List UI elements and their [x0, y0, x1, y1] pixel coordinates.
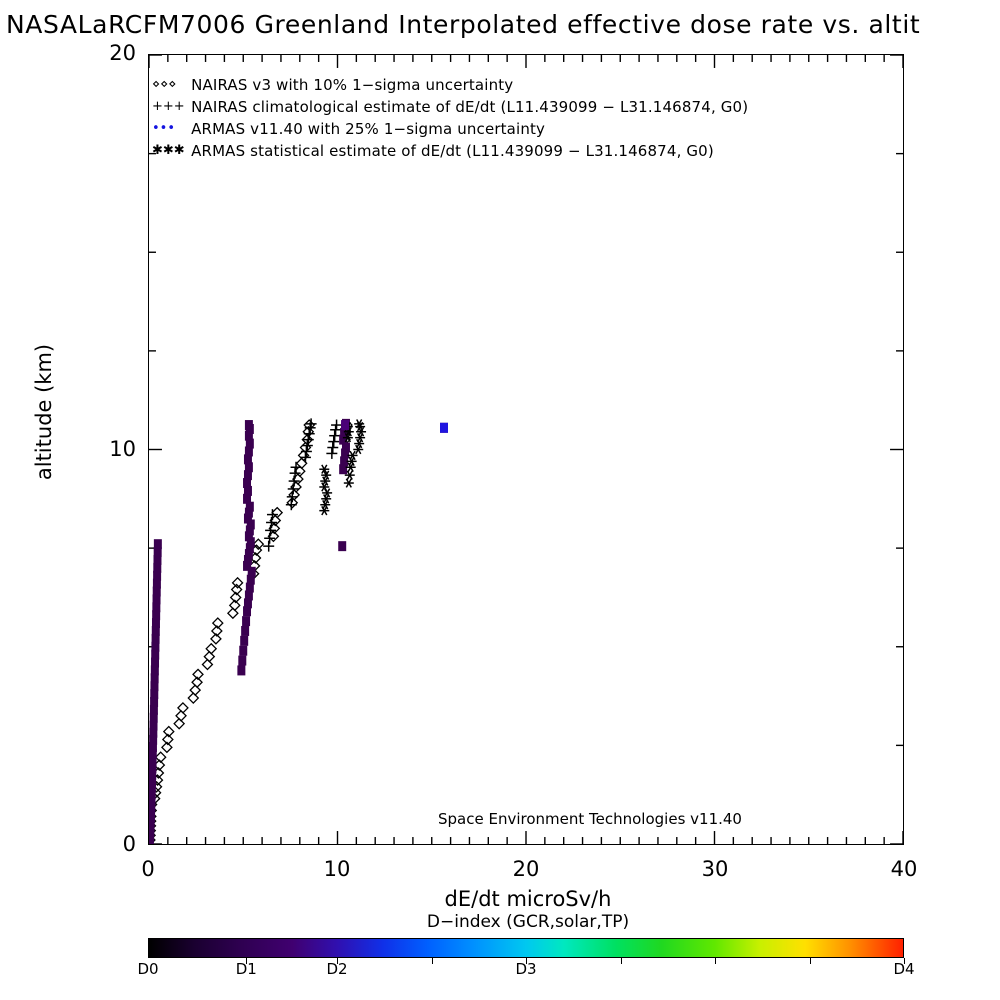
y-tick-label: 20: [76, 41, 136, 65]
legend-item-armas-stat: ✱✱✱ ARMAS statistical estimate of dE/dt …: [152, 140, 892, 162]
legend-label: ARMAS v11.40 with 25% 1−sigma uncertaint…: [191, 118, 545, 140]
series-1: [263, 418, 342, 551]
x-tick-label: 40: [864, 857, 944, 881]
y-axis-title: altitude (km): [32, 282, 56, 542]
asterisk-icon: ✱✱✱: [152, 140, 186, 162]
plot-area: [148, 54, 904, 845]
watermark-text: Space Environment Technologies v11.40: [370, 810, 810, 828]
diamond-open-icon: ⋄⋄⋄: [152, 74, 186, 96]
colorbar-tick: [715, 958, 716, 964]
y-tick-label: 10: [76, 437, 136, 461]
filled-square-icon: •••: [152, 118, 186, 140]
scatter-plot-canvas: [149, 55, 903, 844]
colorbar-title: D−index (GCR,solar,TP): [388, 912, 668, 932]
legend-label: NAIRAS climatological estimate of dE/dt …: [191, 96, 748, 118]
plus-icon: +++: [152, 96, 186, 118]
colorbar-label: D0: [128, 960, 168, 978]
colorbar-label: D1: [226, 960, 266, 978]
page-title: NASALaRCFM7006 Greenland Interpolated ef…: [6, 10, 1000, 40]
colorbar-label: D2: [317, 960, 357, 978]
legend-item-armas-v1140: ••• ARMAS v11.40 with 25% 1−sigma uncert…: [152, 118, 892, 140]
legend-item-nairas-clim: +++ NAIRAS climatological estimate of dE…: [152, 96, 892, 118]
x-tick-label: 20: [486, 857, 566, 881]
colorbar-tick: [810, 958, 811, 964]
colorbar-label: D4: [884, 960, 924, 978]
colorbar-label: D3: [506, 960, 546, 978]
x-axis-title: dE/dt microSv/h: [388, 887, 668, 911]
legend-label: NAIRAS v3 with 10% 1−sigma uncertainty: [191, 74, 513, 96]
legend: ⋄⋄⋄ NAIRAS v3 with 10% 1−sigma uncertain…: [152, 74, 892, 162]
colorbar-wrapper: D0D1D2D3D4: [148, 938, 904, 958]
y-tick-label: 0: [76, 832, 136, 856]
x-tick-label: 0: [108, 857, 188, 881]
legend-item-nairas-v3: ⋄⋄⋄ NAIRAS v3 with 10% 1−sigma uncertain…: [152, 74, 892, 96]
colorbar-gradient: [148, 938, 904, 958]
colorbar-tick: [621, 958, 622, 964]
x-tick-label: 30: [675, 857, 755, 881]
screenshot-root: NASALaRCFM7006 Greenland Interpolated ef…: [0, 0, 1000, 1000]
x-tick-label: 10: [297, 857, 377, 881]
legend-label: ARMAS statistical estimate of dE/dt (L11…: [191, 140, 714, 162]
colorbar-tick: [432, 958, 433, 964]
